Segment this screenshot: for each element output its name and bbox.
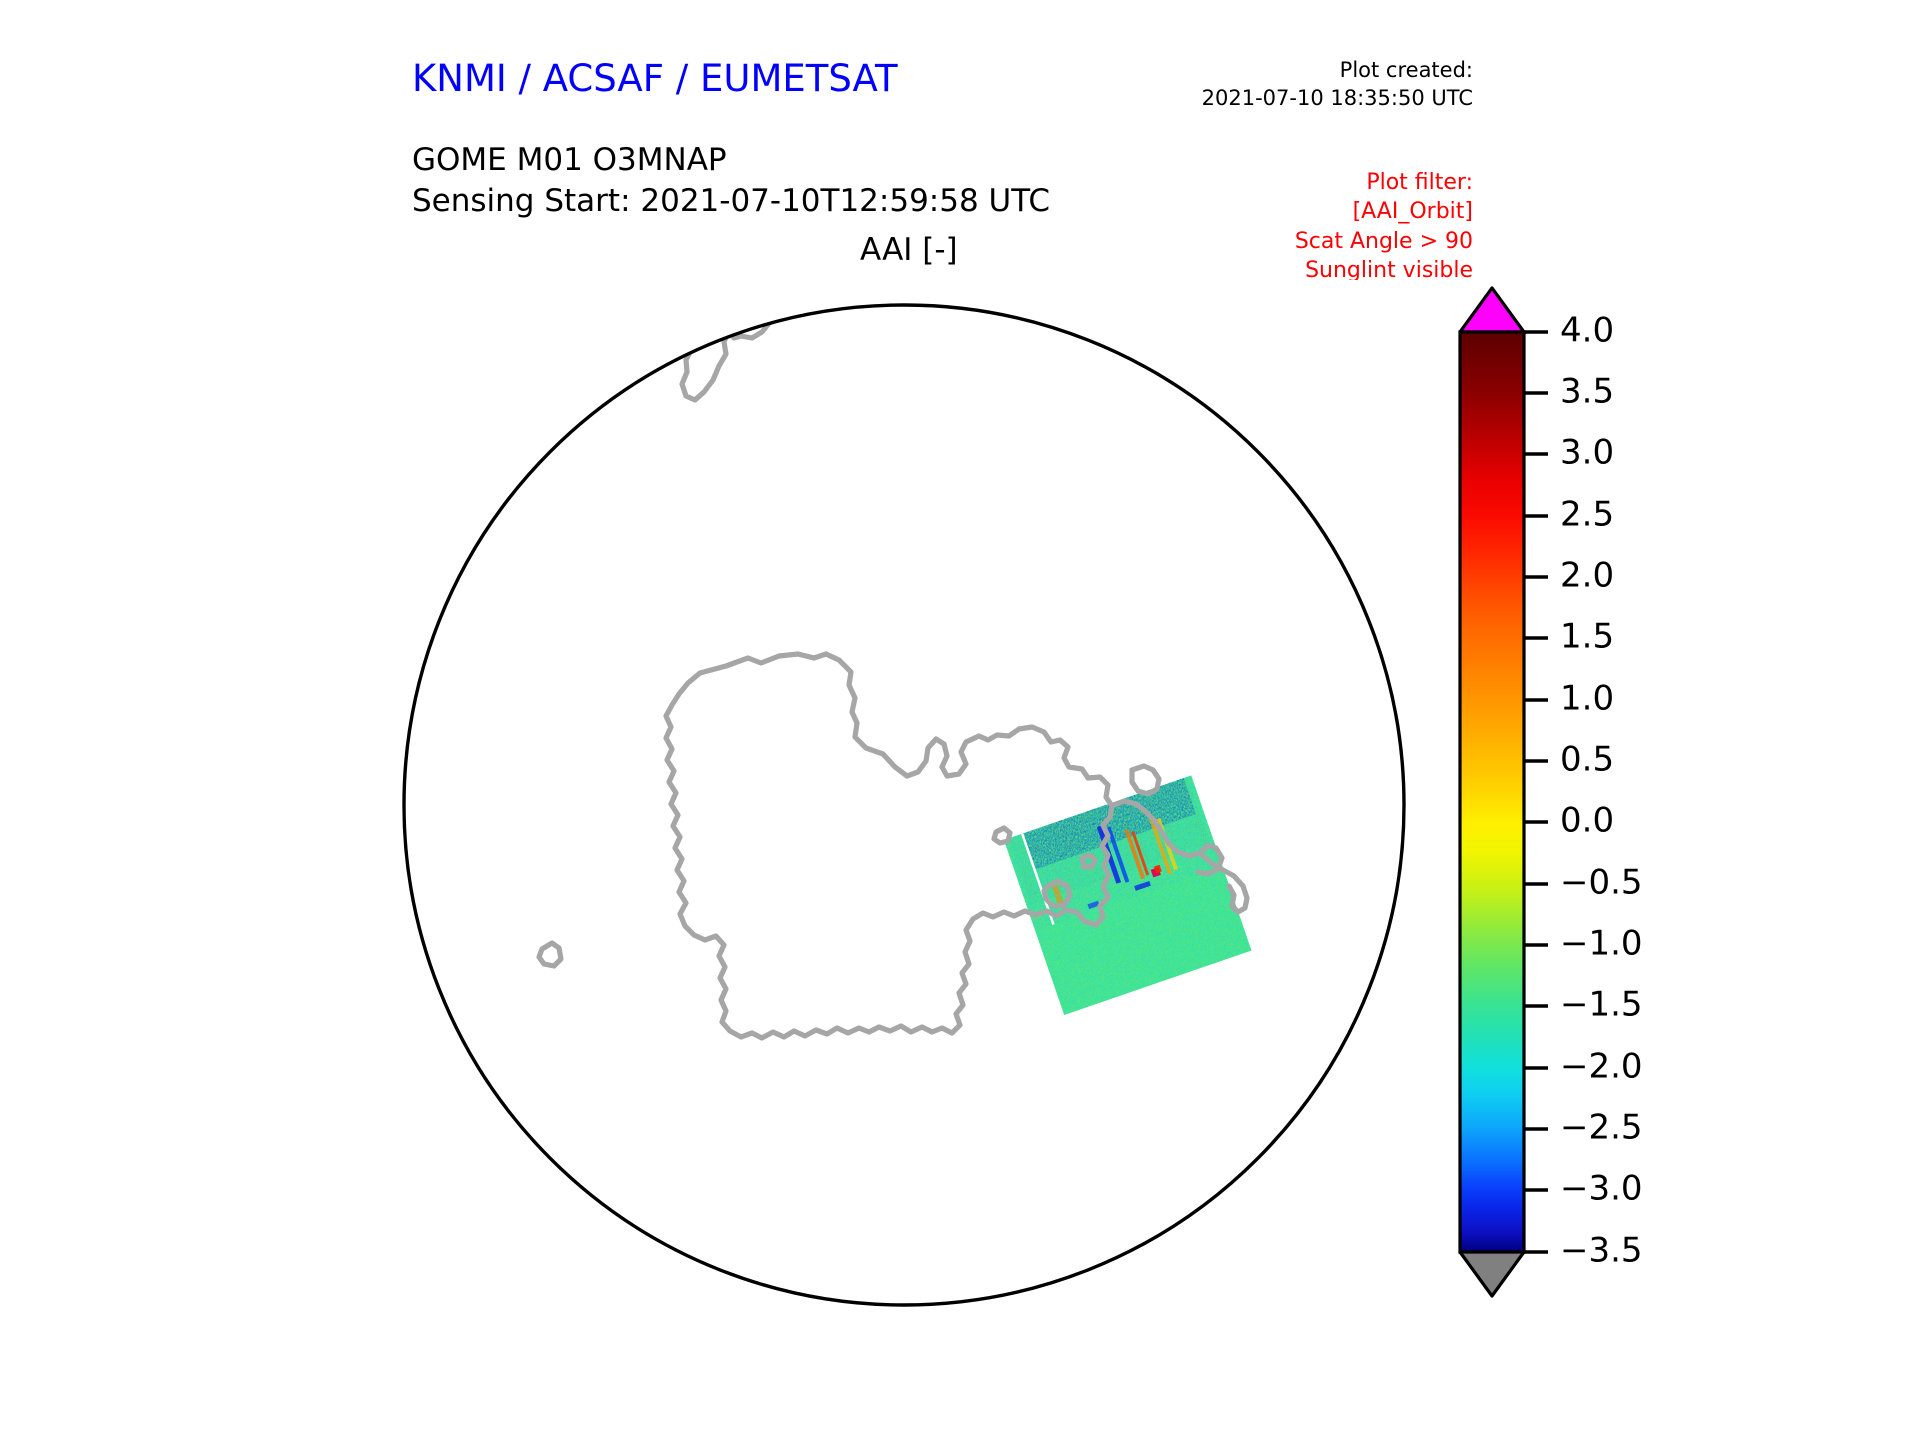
plot-filter-name: [AAI_Orbit] [1295, 197, 1473, 226]
colorbar-tick-label: −2.0 [1560, 1047, 1643, 1087]
colorbar-tick-label: −1.0 [1560, 924, 1643, 964]
colorbar-tick-label: 3.5 [1560, 372, 1614, 412]
colorbar-tick-label: −3.0 [1560, 1169, 1643, 1209]
colorbar-tick-label: 2.0 [1560, 556, 1614, 596]
plot-filter-block: Plot filter: [AAI_Orbit] Scat Angle > 90… [1295, 168, 1473, 285]
colorbar-tick-label: 1.5 [1560, 617, 1614, 657]
colorbar-tick-label: 2.5 [1560, 495, 1614, 535]
colorbar-panel: 4.0 3.5 3.0 2.5 2.0 1.5 1.0 0.5 0.0 −0.5… [1448, 282, 1678, 1302]
colorbar-under-range-arrow [1460, 1252, 1524, 1296]
plot-created-timestamp: 2021-07-10 18:35:50 UTC [1202, 84, 1473, 112]
colorbar-tick-label: 1.0 [1560, 679, 1614, 719]
colorbar-tick-label: 4.0 [1560, 311, 1614, 351]
colorbar-tick-labels: 4.0 3.5 3.0 2.5 2.0 1.5 1.0 0.5 0.0 −0.5… [1560, 311, 1643, 1271]
colorbar: 4.0 3.5 3.0 2.5 2.0 1.5 1.0 0.5 0.0 −0.5… [1448, 282, 1678, 1302]
colorbar-over-range-arrow [1460, 288, 1524, 332]
plot-created-block: Plot created: 2021-07-10 18:35:50 UTC [1202, 56, 1473, 113]
colorbar-tick-label: −1.5 [1560, 985, 1643, 1025]
colorbar-ticks [1524, 332, 1548, 1252]
colorbar-tick-label: 0.0 [1560, 801, 1614, 841]
plot-filter-scat-angle: Scat Angle > 90 [1295, 227, 1473, 256]
page-title-organisation: KNMI / ACSAF / EUMETSAT [412, 57, 898, 100]
quantity-title: AAI [-] [860, 232, 958, 268]
colorbar-tick-label: −0.5 [1560, 863, 1643, 903]
product-info-block: GOME M01 O3MNAP Sensing Start: 2021-07-1… [412, 140, 1050, 222]
colorbar-gradient [1460, 332, 1524, 1252]
colorbar-tick-label: −3.5 [1560, 1231, 1643, 1271]
plot-created-label: Plot created: [1202, 56, 1473, 84]
colorbar-tick-label: 0.5 [1560, 740, 1614, 780]
map-panel [396, 280, 1436, 1340]
plot-filter-label: Plot filter: [1295, 168, 1473, 197]
colorbar-tick-label: 3.0 [1560, 433, 1614, 473]
polar-map [396, 280, 1436, 1340]
sensing-start: Sensing Start: 2021-07-10T12:59:58 UTC [412, 181, 1050, 222]
map-background [396, 280, 1436, 1340]
product-name: GOME M01 O3MNAP [412, 140, 1050, 181]
colorbar-tick-label: −2.5 [1560, 1108, 1643, 1148]
